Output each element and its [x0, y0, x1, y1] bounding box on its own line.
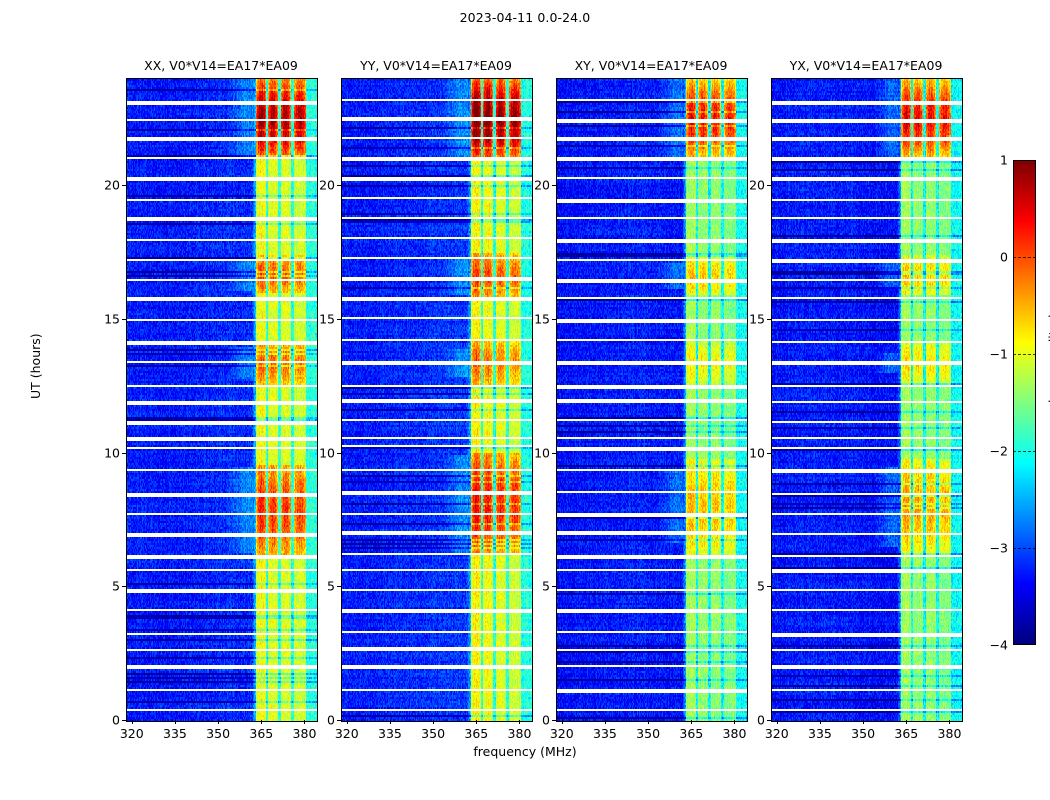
x-tick-label: 380: [508, 726, 532, 741]
y-tick-label: 0: [112, 713, 120, 728]
colorbar-tick-label: −1: [990, 347, 1008, 362]
x-tick-mark: [175, 720, 176, 724]
y-tick-mark: [337, 319, 341, 320]
x-tick-label: 365: [249, 726, 273, 741]
x-tick-label: 350: [636, 726, 660, 741]
panel-image[interactable]: [126, 78, 318, 722]
panel-title: XX, V0*V14=EA17*EA09: [144, 58, 298, 73]
spectrogram-figure: 2023-04-11 0.0-24.0 UT (hours) frequency…: [0, 0, 1050, 800]
panel-image[interactable]: [556, 78, 748, 722]
y-tick-mark: [122, 720, 126, 721]
x-tick-mark: [777, 720, 778, 724]
x-tick-mark: [347, 720, 348, 724]
y-tick-mark: [767, 586, 771, 587]
y-tick-mark: [122, 185, 126, 186]
x-tick-label: 335: [808, 726, 832, 741]
y-tick-label: 20: [534, 178, 550, 193]
x-tick-mark: [519, 720, 520, 724]
waterfall-canvas: [557, 79, 747, 721]
x-tick-label: 320: [120, 726, 144, 741]
colorbar-tick-mark: [1013, 548, 1036, 549]
y-tick-label: 15: [534, 311, 550, 326]
y-tick-label: 20: [319, 178, 335, 193]
y-tick-label: 20: [104, 178, 120, 193]
x-tick-label: 365: [679, 726, 703, 741]
x-tick-label: 320: [335, 726, 359, 741]
figure-suptitle: 2023-04-11 0.0-24.0: [0, 10, 1050, 25]
x-tick-label: 320: [550, 726, 574, 741]
x-tick-mark: [605, 720, 606, 724]
y-tick-mark: [552, 720, 556, 721]
x-tick-label: 365: [464, 726, 488, 741]
x-tick-mark: [562, 720, 563, 724]
colorbar-tick-mark: [1013, 354, 1036, 355]
colorbar-tick-label: −4: [990, 638, 1008, 653]
y-tick-label: 15: [104, 311, 120, 326]
x-tick-label: 335: [593, 726, 617, 741]
y-tick-mark: [122, 319, 126, 320]
colorbar-tick-mark: [1013, 257, 1036, 258]
y-tick-label: 5: [327, 579, 335, 594]
y-tick-label: 10: [319, 445, 335, 460]
y-tick-label: 0: [327, 713, 335, 728]
x-tick-mark: [648, 720, 649, 724]
x-tick-mark: [132, 720, 133, 724]
x-tick-mark: [261, 720, 262, 724]
y-tick-mark: [337, 720, 341, 721]
spectrogram-panel-yx[interactable]: YX, V0*V14=EA17*EA0932033535036538005101…: [771, 78, 961, 720]
y-tick-label: 10: [749, 445, 765, 460]
y-axis-label: UT (hours): [28, 333, 43, 399]
panel-title: YY, V0*V14=EA17*EA09: [360, 58, 512, 73]
y-tick-mark: [552, 586, 556, 587]
x-tick-label: 350: [206, 726, 230, 741]
y-tick-label: 10: [534, 445, 550, 460]
colorbar-tick-mark: [1013, 451, 1036, 452]
y-tick-mark: [122, 586, 126, 587]
y-tick-mark: [767, 185, 771, 186]
y-tick-label: 20: [749, 178, 765, 193]
waterfall-canvas: [342, 79, 532, 721]
y-tick-mark: [552, 185, 556, 186]
y-tick-label: 5: [542, 579, 550, 594]
y-tick-label: 5: [757, 579, 765, 594]
y-tick-mark: [767, 720, 771, 721]
y-tick-mark: [552, 319, 556, 320]
colorbar-label: log₁₀ amplitude: [1046, 307, 1050, 403]
x-tick-label: 350: [421, 726, 445, 741]
y-tick-mark: [552, 453, 556, 454]
x-tick-mark: [304, 720, 305, 724]
x-tick-label: 350: [851, 726, 875, 741]
y-tick-label: 5: [112, 579, 120, 594]
colorbar-tick-label: 1: [1000, 153, 1008, 168]
y-tick-mark: [337, 586, 341, 587]
x-tick-mark: [433, 720, 434, 724]
spectrogram-panel-xy[interactable]: XY, V0*V14=EA17*EA0932033535036538005101…: [556, 78, 746, 720]
panel-image[interactable]: [771, 78, 963, 722]
x-tick-mark: [863, 720, 864, 724]
x-tick-label: 380: [293, 726, 317, 741]
y-tick-mark: [767, 319, 771, 320]
y-tick-label: 15: [319, 311, 335, 326]
colorbar-tick-label: −3: [990, 541, 1008, 556]
waterfall-canvas: [127, 79, 317, 721]
y-tick-label: 10: [104, 445, 120, 460]
panel-title: XY, V0*V14=EA17*EA09: [575, 58, 728, 73]
spectrogram-panel-yy[interactable]: YY, V0*V14=EA17*EA0932033535036538005101…: [341, 78, 531, 720]
x-tick-mark: [820, 720, 821, 724]
x-tick-label: 380: [723, 726, 747, 741]
x-tick-mark: [218, 720, 219, 724]
x-tick-mark: [476, 720, 477, 724]
x-tick-label: 320: [765, 726, 789, 741]
colorbar-tick-label: 0: [1000, 250, 1008, 265]
y-tick-label: 15: [749, 311, 765, 326]
x-tick-label: 335: [378, 726, 402, 741]
x-axis-label: frequency (MHz): [0, 744, 1050, 759]
y-tick-label: 0: [542, 713, 550, 728]
x-tick-label: 335: [163, 726, 187, 741]
x-tick-mark: [390, 720, 391, 724]
x-tick-mark: [949, 720, 950, 724]
x-tick-mark: [734, 720, 735, 724]
x-tick-mark: [906, 720, 907, 724]
y-tick-label: 0: [757, 713, 765, 728]
panel-title: YX, V0*V14=EA17*EA09: [790, 58, 943, 73]
x-tick-label: 365: [894, 726, 918, 741]
y-tick-mark: [122, 453, 126, 454]
x-tick-label: 380: [938, 726, 962, 741]
y-tick-mark: [767, 453, 771, 454]
y-tick-mark: [337, 453, 341, 454]
x-tick-mark: [691, 720, 692, 724]
panel-image[interactable]: [341, 78, 533, 722]
colorbar-tick-label: −2: [990, 444, 1008, 459]
waterfall-canvas: [772, 79, 962, 721]
colorbar: −4−3−2−101: [1013, 160, 1036, 645]
y-tick-mark: [337, 185, 341, 186]
spectrogram-panel-xx[interactable]: XX, V0*V14=EA17*EA0932033535036538005101…: [126, 78, 316, 720]
colorbar-gradient: [1013, 160, 1036, 645]
